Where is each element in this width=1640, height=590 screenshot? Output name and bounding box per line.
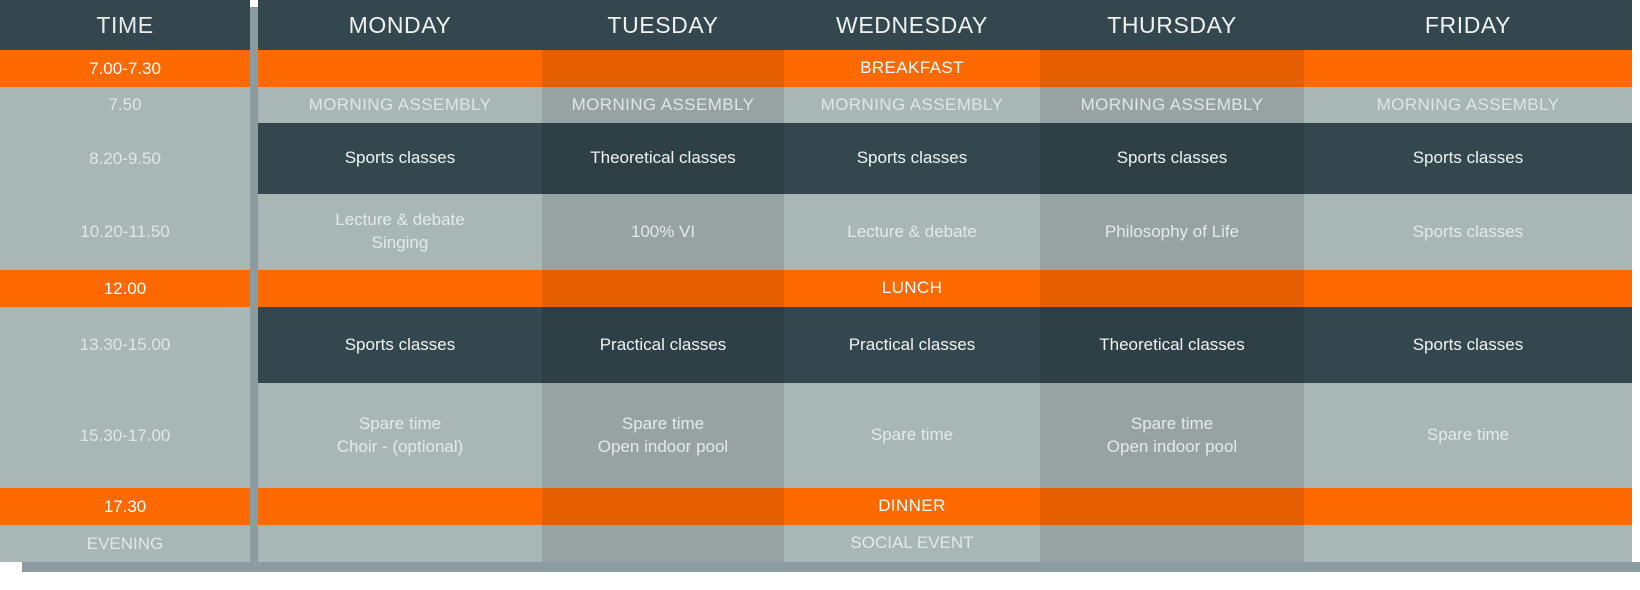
weekly-timetable: TIME7.00-7.307.508.20-9.5010.20-11.5012.…: [0, 0, 1640, 590]
cell-r5-c1[interactable]: Practical classes: [542, 307, 784, 383]
cell-r2-c3[interactable]: Sports classes: [1040, 123, 1304, 194]
cell-r5-c0[interactable]: Sports classes: [258, 307, 542, 383]
cell-r1-c2[interactable]: MORNING ASSEMBLY: [784, 87, 1040, 123]
cell-r4-c2[interactable]: LUNCH: [784, 270, 1040, 307]
cell-r1-c1[interactable]: MORNING ASSEMBLY: [542, 87, 784, 123]
time-label-1: 7.50: [0, 87, 250, 123]
time-label-4: 12.00: [0, 270, 250, 307]
column-divider[interactable]: [250, 4, 258, 570]
cell-r3-c0[interactable]: Lecture & debateSinging: [258, 194, 542, 270]
day-header-tuesday[interactable]: TUESDAY: [542, 0, 784, 50]
cell-r2-c2[interactable]: Sports classes: [784, 123, 1040, 194]
cell-r1-c4[interactable]: MORNING ASSEMBLY: [1304, 87, 1632, 123]
cell-r1-c3[interactable]: MORNING ASSEMBLY: [1040, 87, 1304, 123]
time-column-header: TIME: [0, 0, 250, 50]
bottom-shadow-strip: [0, 562, 1640, 572]
column-divider-cap: [250, 0, 258, 7]
time-column: TIME7.00-7.307.508.20-9.5010.20-11.5012.…: [0, 0, 250, 562]
time-label-7: 17.30: [0, 488, 250, 525]
cell-r3-c1[interactable]: 100% VI: [542, 194, 784, 270]
cell-r6-c0[interactable]: Spare timeChoir - (optional): [258, 383, 542, 488]
time-label-5: 13.30-15.00: [0, 307, 250, 383]
cell-r5-c4[interactable]: Sports classes: [1304, 307, 1632, 383]
cell-r6-c3[interactable]: Spare timeOpen indoor pool: [1040, 383, 1304, 488]
time-label-2: 8.20-9.50: [0, 123, 250, 194]
cell-r3-c3[interactable]: Philosophy of Life: [1040, 194, 1304, 270]
day-header-wednesday[interactable]: WEDNESDAY: [784, 0, 1040, 50]
day-header-thursday[interactable]: THURSDAY: [1040, 0, 1304, 50]
time-label-3: 10.20-11.50: [0, 194, 250, 270]
cell-r7-c2[interactable]: DINNER: [784, 488, 1040, 525]
time-label-0: 7.00-7.30: [0, 50, 250, 87]
time-label-6: 15.30-17.00: [0, 383, 250, 488]
cell-r2-c4[interactable]: Sports classes: [1304, 123, 1632, 194]
time-label-8: EVENING: [0, 525, 250, 562]
bottom-shadow-gap: [0, 562, 22, 572]
day-header-friday[interactable]: FRIDAY: [1304, 0, 1632, 50]
cell-r5-c3[interactable]: Theoretical classes: [1040, 307, 1304, 383]
cell-r6-c4[interactable]: Spare time: [1304, 383, 1632, 488]
cell-r3-c2[interactable]: Lecture & debate: [784, 194, 1040, 270]
cell-r6-c1[interactable]: Spare timeOpen indoor pool: [542, 383, 784, 488]
cell-r6-c2[interactable]: Spare time: [784, 383, 1040, 488]
cell-r8-c2[interactable]: SOCIAL EVENT: [784, 525, 1040, 562]
cell-r0-c2[interactable]: BREAKFAST: [784, 50, 1040, 87]
cell-r1-c0[interactable]: MORNING ASSEMBLY: [258, 87, 542, 123]
cell-r2-c0[interactable]: Sports classes: [258, 123, 542, 194]
day-header-monday[interactable]: MONDAY: [258, 0, 542, 50]
cell-r5-c2[interactable]: Practical classes: [784, 307, 1040, 383]
cell-r2-c1[interactable]: Theoretical classes: [542, 123, 784, 194]
cell-r3-c4[interactable]: Sports classes: [1304, 194, 1632, 270]
schedule-grid: MONDAYTUESDAYWEDNESDAYTHURSDAYFRIDAYBREA…: [258, 0, 1632, 562]
